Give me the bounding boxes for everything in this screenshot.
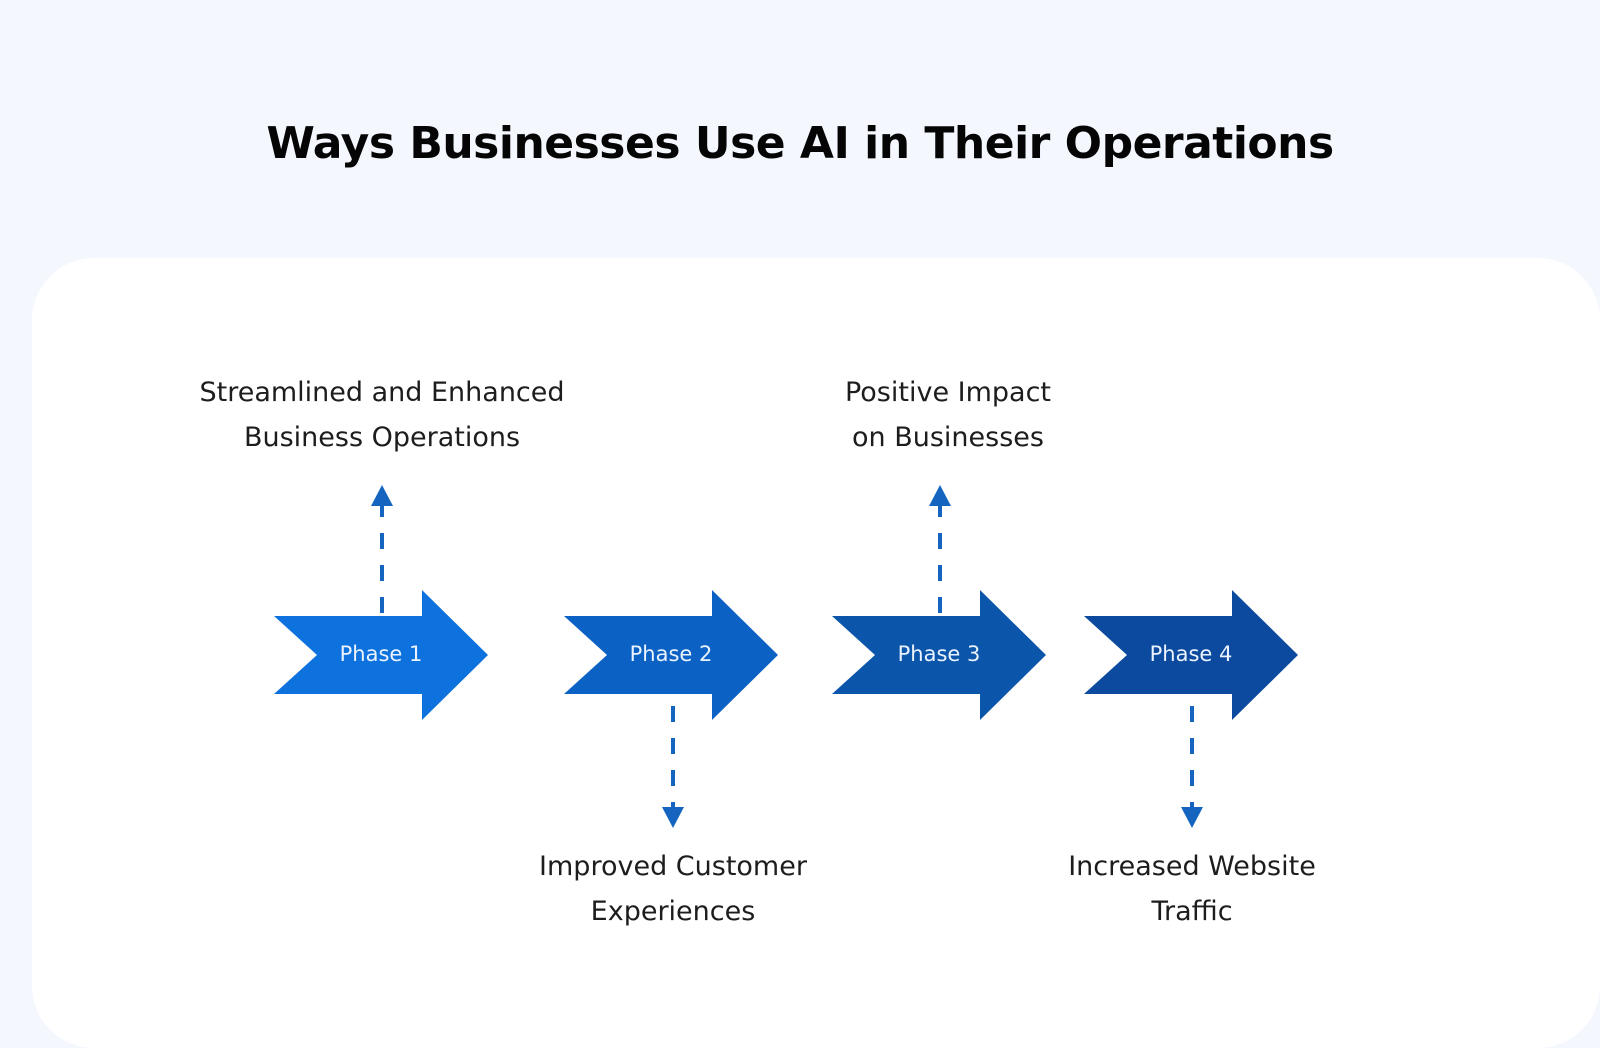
callout-phase-2: Improved Customer Experiences [523, 844, 823, 934]
connector-up-phase-3 [929, 485, 951, 613]
callout-phase-1: Streamlined and Enhanced Business Operat… [187, 370, 577, 460]
page-title: Ways Businesses Use AI in Their Operatio… [0, 118, 1600, 169]
connector-up-phase-1 [371, 485, 393, 613]
phase-arrow-4[interactable] [1084, 590, 1298, 720]
diagram-card: Phase 1 Phase 2 Phase 3 Phase 4 Streamli… [32, 258, 1600, 1048]
callout-phase-4: Increased Website Traffic [1054, 844, 1330, 934]
callout-phase-3: Positive Impact on Businesses [818, 370, 1078, 460]
phase-arrow-2[interactable] [564, 590, 778, 720]
connector-down-phase-2 [662, 706, 684, 828]
connector-down-phase-4 [1181, 706, 1203, 828]
